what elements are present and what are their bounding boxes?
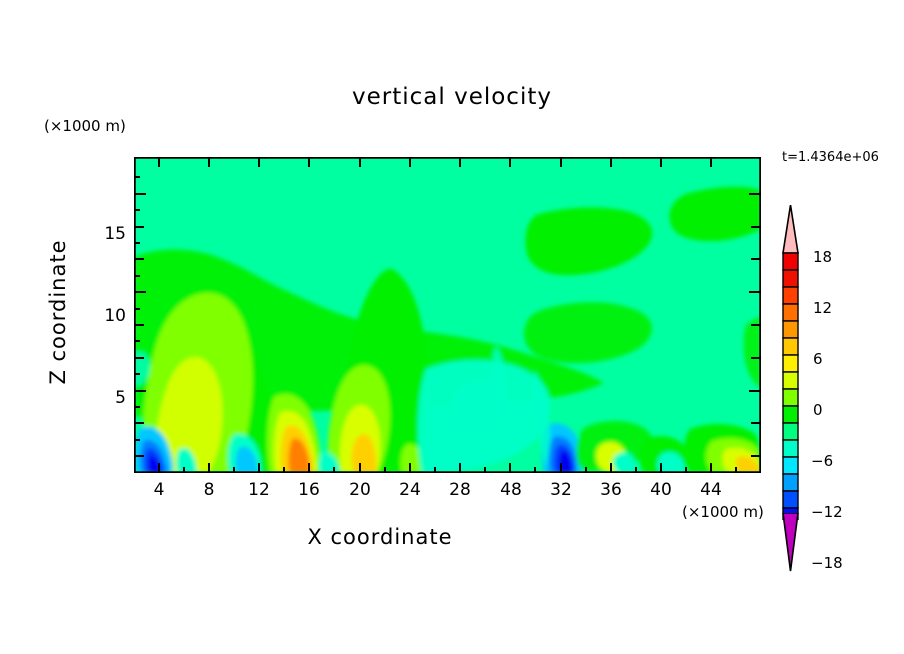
- colorbar-over-arrow: [783, 205, 798, 253]
- colorbar[interactable]: [780, 205, 808, 520]
- x-tick-label: 24: [390, 480, 430, 500]
- contour-plot-area: [134, 157, 761, 473]
- y-tick-label: 10: [86, 306, 126, 326]
- colorbar-bands: [783, 253, 798, 520]
- y-tick-label: 15: [86, 224, 126, 244]
- x-axis-title: X coordinate: [0, 525, 760, 549]
- y-tick-label: 5: [86, 388, 126, 408]
- colorbar-tick-label: −6: [811, 452, 861, 470]
- colorbar-tick-label: −12: [811, 503, 861, 521]
- colorbar-tick-label: 12: [813, 299, 863, 317]
- colorbar-tick-label: 0: [813, 401, 863, 419]
- x-tick-label: 32: [541, 480, 581, 500]
- x-tick-label: 20: [340, 480, 380, 500]
- contour-field: [134, 157, 761, 473]
- colorbar-swatches[interactable]: [780, 205, 808, 520]
- colorbar-tick-label: −18: [811, 554, 861, 572]
- x-tick-label: 44: [691, 480, 731, 500]
- x-tick-label: 4: [139, 480, 179, 500]
- colorbar-under-arrow: [780, 513, 808, 573]
- x-tick-label: 48: [491, 480, 531, 500]
- x-tick-label: 28: [440, 480, 480, 500]
- y-axis-title: Z coordinate: [46, 202, 70, 422]
- colorbar-tick-label: 6: [813, 350, 863, 368]
- y-axis-units-label: (×1000 m): [44, 117, 126, 135]
- page-title: vertical velocity: [0, 84, 904, 110]
- colorbar-tick-label: 18: [813, 248, 863, 266]
- x-tick-label: 16: [289, 480, 329, 500]
- x-tick-label: 12: [239, 480, 279, 500]
- x-tick-label: 8: [189, 480, 229, 500]
- x-tick-label: 40: [641, 480, 681, 500]
- x-axis-units-label: (×1000 m): [682, 503, 764, 521]
- timestamp-annotation: t=1.4364e+06: [782, 150, 879, 165]
- x-tick-label: 36: [591, 480, 631, 500]
